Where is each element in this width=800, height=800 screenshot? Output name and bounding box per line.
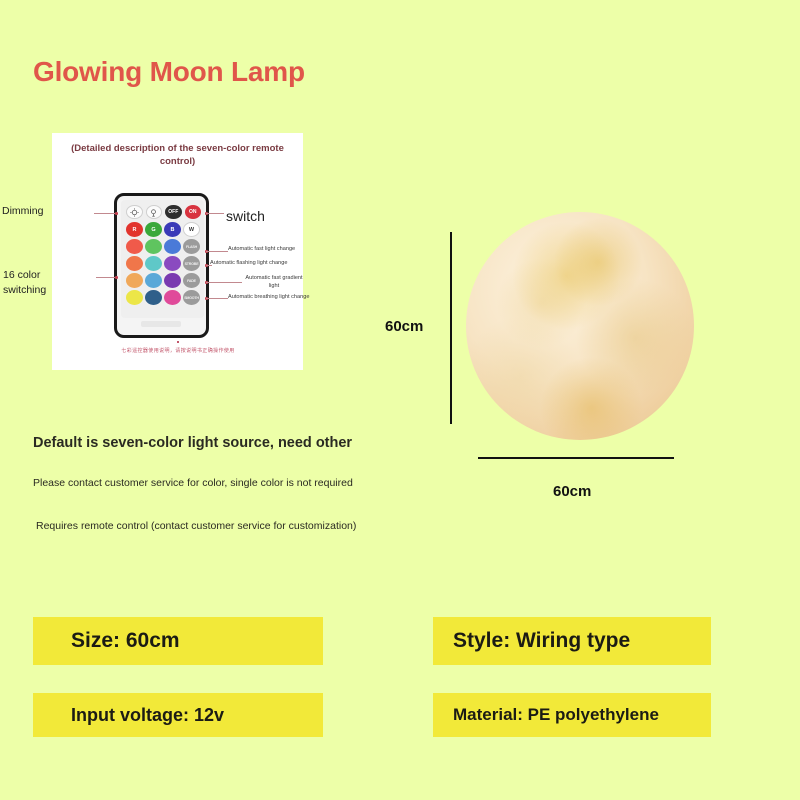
callout-dimming: Dimming — [2, 205, 43, 217]
spec-input-voltage-label: Input voltage: 12v — [71, 705, 224, 726]
color-orange-red-button[interactable] — [126, 239, 143, 254]
spec-box-size: Size: 60cm — [33, 617, 323, 665]
remote-color-row: FADE — [126, 273, 201, 288]
callout-switch: switch — [226, 208, 265, 224]
callout-fast-light-change: Automatic fast light change — [228, 246, 295, 252]
remote-footer-note: 七彩遥控器使用说明，请按说明书正确操作使用 — [88, 347, 268, 354]
leader-line-gradient — [206, 282, 242, 283]
description-line-1: Default is seven-color light source, nee… — [33, 435, 352, 451]
color-sky-blue-button[interactable] — [145, 273, 162, 288]
remote-color-row: STROBE — [126, 256, 201, 271]
color-white-button[interactable]: W — [183, 222, 200, 237]
callout-gradient-light: Automatic fast gradient light — [243, 274, 305, 290]
power-off-button[interactable]: OFF — [165, 205, 181, 219]
leader-dot-color-switching — [115, 276, 118, 279]
leader-dot-dimming — [115, 212, 118, 215]
flash-button[interactable]: FLASH — [183, 239, 200, 254]
brightness-up-button[interactable] — [146, 205, 163, 219]
fade-button[interactable]: FADE — [183, 273, 200, 288]
height-dimension-line — [450, 232, 452, 424]
spec-size-label: Size: 60cm — [71, 629, 180, 653]
spec-style-label: Style: Wiring type — [453, 629, 630, 653]
description-line-2: Please contact customer service for colo… — [33, 477, 353, 489]
color-orange-button[interactable] — [126, 256, 143, 271]
color-red-button[interactable]: R — [126, 222, 143, 237]
description-line-3: Requires remote control (contact custome… — [36, 520, 356, 532]
callout-breathing-light-change: Automatic breathing light change — [228, 294, 309, 300]
remote-top-button-row: OFF ON — [126, 205, 201, 219]
remote-color-grid: R G B W FLASH STRO — [126, 222, 201, 307]
color-cyan-button[interactable] — [145, 256, 162, 271]
brightness-down-button[interactable] — [126, 205, 143, 219]
remote-color-row: SMOOTH — [126, 290, 201, 305]
page-title: Glowing Moon Lamp — [33, 56, 305, 88]
width-dimension-line — [478, 457, 674, 459]
leader-line-breathing — [206, 298, 228, 299]
spec-material-label: Material: PE polyethylene — [453, 705, 659, 725]
color-navy-button[interactable] — [145, 290, 162, 305]
remote-keypad-area: OFF ON R G B W FLASH — [121, 200, 204, 318]
color-light-orange-button[interactable] — [126, 273, 143, 288]
spec-box-material: Material: PE polyethylene — [433, 693, 711, 737]
spec-box-style: Style: Wiring type — [433, 617, 711, 665]
footer-dot-marker — [177, 341, 179, 343]
leader-line-dimming — [94, 213, 116, 214]
sun-plus-icon — [149, 208, 158, 217]
color-pink-button[interactable] — [164, 290, 181, 305]
color-light-green-button[interactable] — [145, 239, 162, 254]
height-dimension-label: 60cm — [385, 318, 423, 335]
width-dimension-label: 60cm — [553, 483, 591, 500]
remote-diagram-heading: (Detailed description of the seven-color… — [58, 142, 297, 168]
color-green-button[interactable]: G — [145, 222, 162, 237]
power-on-button[interactable]: ON — [185, 205, 201, 219]
remote-color-row: R G B W — [126, 222, 201, 237]
moon-lamp-product-image — [466, 212, 694, 440]
smooth-button[interactable]: SMOOTH — [183, 290, 200, 305]
remote-color-row: FLASH — [126, 239, 201, 254]
leader-line-fast — [206, 251, 228, 252]
color-purple-button[interactable] — [164, 256, 181, 271]
remote-bottom-strip — [141, 321, 181, 327]
remote-control-device: OFF ON R G B W FLASH — [114, 193, 209, 338]
color-yellow-button[interactable] — [126, 290, 143, 305]
spec-box-input-voltage: Input voltage: 12v — [33, 693, 323, 737]
product-infographic: Glowing Moon Lamp (Detailed description … — [0, 0, 800, 800]
color-violet-button[interactable] — [164, 273, 181, 288]
color-blue-button[interactable]: B — [164, 222, 181, 237]
callout-flashing-light-change: Automatic flashing light change — [210, 260, 287, 266]
sun-minus-icon — [130, 208, 139, 217]
leader-line-switch — [206, 213, 224, 214]
callout-color-switching: 16 color switching — [3, 268, 59, 298]
color-royal-blue-button[interactable] — [164, 239, 181, 254]
strobe-button[interactable]: STROBE — [183, 256, 200, 271]
leader-line-color-switching — [96, 277, 116, 278]
